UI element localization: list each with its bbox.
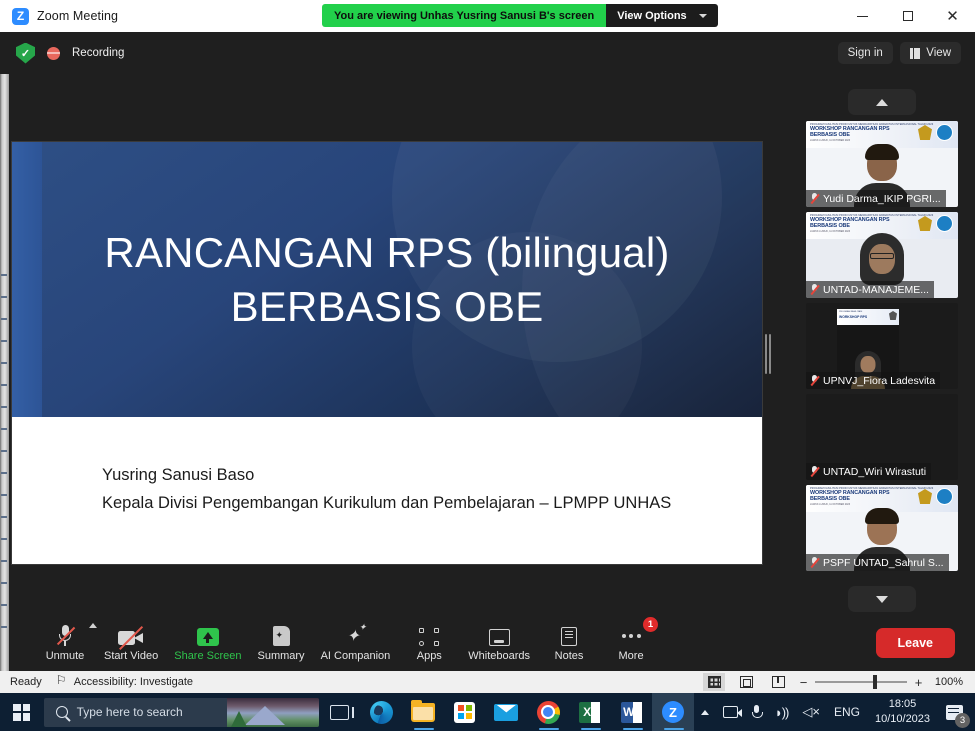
chrome-icon: [537, 701, 560, 724]
zoom-logo-icon: [12, 8, 29, 25]
powerpoint-slide[interactable]: RANCANGAN RPS (bilingual) BERBASIS OBE Y…: [12, 142, 762, 564]
banner-title-2: BERBASIS OBE: [810, 223, 954, 229]
accessibility-icon: [56, 676, 69, 689]
participant-name-label: Yudi Darma_IKIP PGRI...: [806, 190, 946, 207]
taskbar-app-word[interactable]: W: [611, 693, 653, 731]
search-placeholder: Type here to search: [77, 705, 183, 719]
participant-name: UPNVJ_Fiora Ladesvita: [823, 375, 935, 387]
tray-overflow-button[interactable]: [694, 693, 716, 731]
windows-start-icon: [13, 704, 30, 721]
participant-filmstrip: PROGRAM FASILITASI PRODI UNTUK MENDAPATK…: [789, 74, 975, 671]
accessibility-button[interactable]: Accessibility: Investigate: [56, 676, 193, 689]
powerpoint-vertical-ruler: [0, 74, 9, 671]
taskbar-app-store[interactable]: [444, 693, 486, 731]
filmstrip-scroll-down-button[interactable]: [848, 586, 916, 612]
participant-name: PSPF UNTAD_Sahrul S...: [823, 557, 944, 569]
slide-title-line-1: RANCANGAN RPS (bilingual): [104, 226, 669, 280]
slide-subtitle-line-2: Kepala Divisi Pengembangan Kurikulum dan…: [102, 489, 762, 517]
clock-date: 10/10/2023: [875, 712, 930, 727]
excel-icon: X: [579, 702, 600, 723]
chevron-down-icon: [699, 14, 707, 18]
view-options-button[interactable]: View Options: [606, 4, 717, 27]
taskbar-app-zoom[interactable]: Z: [652, 693, 694, 731]
more-button[interactable]: More 1: [600, 618, 662, 668]
shield-check-icon[interactable]: [16, 43, 35, 64]
ruler-tick: [1, 582, 7, 584]
minimize-button[interactable]: [840, 0, 885, 32]
participant-tile[interactable]: PROGRAM FASILITASI PRODI UNTUK MENDAPATK…: [806, 121, 958, 207]
ruler-tick: [1, 538, 7, 540]
system-tray: ◗)) ◁× ENG 18:05 10/10/2023 3: [694, 693, 975, 731]
normal-view-icon: [708, 676, 721, 688]
window-title: Zoom Meeting: [37, 9, 118, 23]
title-bar-left: Zoom Meeting: [0, 8, 118, 25]
reading-view-icon: [740, 676, 753, 688]
recording-status-group: Recording: [0, 43, 124, 64]
participant-name-label: UNTAD_Wiri Wirastuti: [806, 463, 931, 480]
ruler-tick: [1, 384, 7, 386]
ruler-tick: [1, 472, 7, 474]
reading-view-button[interactable]: [735, 673, 757, 691]
ruler-tick: [1, 406, 7, 408]
ruler-tick: [1, 560, 7, 562]
recording-indicator-icon[interactable]: [47, 47, 60, 60]
notes-label: Notes: [555, 650, 584, 662]
participant-tile[interactable]: PROGRAM FASILITASI PRODI UNTUK MENDAPATK…: [806, 212, 958, 298]
slideshow-button[interactable]: [767, 673, 789, 691]
more-label: More: [619, 650, 644, 662]
view-button[interactable]: View: [900, 42, 961, 64]
ruler-tick: [1, 362, 7, 364]
unmute-button[interactable]: Unmute: [34, 618, 96, 668]
taskbar-app-chrome[interactable]: [527, 693, 569, 731]
whiteboards-label: Whiteboards: [468, 650, 530, 662]
maximize-icon: [903, 11, 913, 21]
notes-icon: [561, 627, 577, 646]
zoom-slider[interactable]: [815, 681, 907, 683]
unmute-label: Unmute: [46, 650, 85, 662]
slide-title-line-2: BERBASIS OBE: [231, 280, 544, 334]
recording-label: Recording: [72, 47, 124, 59]
ai-sparkle-icon: ✦✦: [345, 626, 365, 646]
slideshow-icon: [772, 676, 785, 688]
view-options-label: View Options: [617, 10, 686, 22]
banner-date: LUWUK LUWUK, 11 OKTOBER 2023: [810, 503, 954, 506]
mail-icon: [494, 704, 518, 721]
slide-subtitle-line-1: Yusring Sanusi Baso: [102, 461, 762, 489]
close-button[interactable]: ✕: [930, 0, 975, 32]
share-screen-label: Share Screen: [174, 650, 241, 662]
microphone-muted-icon: [810, 193, 819, 205]
zoom-meeting-window: Zoom Meeting You are viewing Unhas Yusri…: [0, 0, 975, 731]
view-label: View: [926, 47, 951, 59]
zoom-percent-label[interactable]: 100%: [933, 676, 963, 688]
ruler-tick: [1, 516, 7, 518]
ministry-logo-icon: [936, 124, 953, 141]
more-dots-icon: [622, 626, 641, 646]
ai-companion-label: AI Companion: [321, 650, 391, 662]
participant-name: UNTAD_Wiri Wirastuti: [823, 466, 926, 478]
microphone-muted-icon: [810, 466, 819, 478]
layout-view-icon: [910, 48, 921, 59]
participant-name: Yudi Darma_IKIP PGRI...: [823, 193, 941, 205]
slide-title-text: RANCANGAN RPS (bilingual) BERBASIS OBE: [12, 142, 762, 417]
microphone-muted-icon: [810, 375, 819, 387]
search-highlight-image: [227, 698, 319, 727]
wifi-icon: ◗)): [775, 705, 789, 720]
banner-date: LUWUK LUWUK, 11 OKTOBER 2023: [810, 139, 954, 142]
window-title-bar: Zoom Meeting You are viewing Unhas Yusri…: [0, 0, 975, 32]
taskbar-app-file-explorer[interactable]: [402, 693, 444, 731]
window-controls: ✕: [840, 0, 975, 32]
tray-microphone[interactable]: [745, 693, 768, 731]
shared-screen-stage: RANCANGAN RPS (bilingual) BERBASIS OBE Y…: [0, 74, 975, 671]
share-screen-icon: [197, 628, 219, 646]
zoom-meeting-controls: Unmute Start Video Share Screen Summary …: [12, 615, 975, 671]
participant-tile[interactable]: PROGRAM FASILITASI WORKSHOP RPS: [806, 303, 958, 389]
ruler-tick: [1, 274, 7, 276]
chevron-up-icon: [701, 710, 709, 715]
search-icon: [56, 706, 68, 718]
file-explorer-icon: [411, 703, 435, 722]
sign-in-button[interactable]: Sign in: [838, 42, 893, 64]
filmstrip-scroll-up-button[interactable]: [848, 89, 916, 115]
participant-tile[interactable]: PROGRAM FASILITASI PRODI UNTUK MENDAPATK…: [806, 485, 958, 571]
participant-name-label: UNTAD-MANAJEME...: [806, 281, 934, 298]
task-view-button[interactable]: [319, 693, 361, 731]
clock-time: 18:05: [889, 697, 917, 712]
maximize-button[interactable]: [885, 0, 930, 32]
sign-in-label: Sign in: [848, 47, 883, 59]
microphone-muted-icon: [810, 557, 819, 569]
video-panel-drag-handle[interactable]: [765, 334, 771, 374]
zoom-icon: Z: [662, 701, 684, 723]
normal-view-button[interactable]: [703, 673, 725, 691]
share-screen-button[interactable]: Share Screen: [166, 618, 249, 668]
tray-camera[interactable]: [716, 693, 745, 731]
banner-title-2: BERBASIS OBE: [810, 496, 954, 502]
edge-icon: [370, 701, 393, 724]
summary-doc-icon: [273, 626, 290, 646]
participant-tile[interactable]: UNTAD_Wiri Wirastuti: [806, 394, 958, 480]
participant-name: UNTAD-MANAJEME...: [823, 284, 929, 296]
status-bar-left: Ready Accessibility: Investigate: [0, 676, 193, 689]
ruler-tick: [1, 494, 7, 496]
volume-muted-icon: ◁×: [802, 704, 820, 720]
start-video-label: Start Video: [104, 650, 158, 662]
microphone-muted-icon: [58, 625, 72, 646]
tray-volume[interactable]: ◁×: [795, 693, 827, 731]
zoom-out-button[interactable]: −: [799, 676, 808, 689]
summary-label: Summary: [258, 650, 305, 662]
windows-taskbar: Type here to search X W Z ◗)) ◁× ENG 18:…: [0, 693, 975, 731]
ai-companion-button[interactable]: ✦✦ AI Companion: [313, 618, 399, 668]
chevron-down-icon: [876, 596, 888, 603]
task-view-icon: [330, 705, 349, 720]
ruler-tick: [1, 296, 7, 298]
tray-language[interactable]: ENG: [827, 693, 867, 731]
banner-title-2: BERBASIS OBE: [810, 132, 954, 138]
tray-network[interactable]: ◗)): [768, 693, 796, 731]
screen-share-notice: You are viewing Unhas Yusring Sanusi B's…: [322, 4, 718, 27]
zoom-top-bar-right: Sign in View: [838, 42, 975, 64]
apps-button[interactable]: Apps: [398, 618, 460, 668]
participant-name-label: PSPF UNTAD_Sahrul S...: [806, 554, 949, 571]
close-icon: ✕: [946, 9, 959, 24]
taskbar-app-edge[interactable]: [360, 693, 402, 731]
notes-button[interactable]: Notes: [538, 618, 600, 668]
microphone-tray-icon: [752, 705, 761, 719]
minimize-icon: [857, 16, 868, 17]
word-icon: W: [621, 702, 642, 723]
microphone-muted-icon: [810, 284, 819, 296]
sharing-notice-text: You are viewing Unhas Yusring Sanusi B's…: [322, 4, 606, 27]
apps-label: Apps: [417, 650, 442, 662]
whiteboards-button[interactable]: Whiteboards: [460, 618, 538, 668]
ruler-tick: [1, 604, 7, 606]
zoom-in-button[interactable]: +: [914, 676, 923, 689]
slide-subtitle-area: Yusring Sanusi Baso Kepala Divisi Pengem…: [12, 417, 762, 564]
summary-button[interactable]: Summary: [250, 618, 313, 668]
ruler-tick: [1, 428, 7, 430]
notification-center-button[interactable]: 3: [938, 693, 971, 731]
start-video-button[interactable]: Start Video: [96, 618, 166, 668]
ministry-logo-icon: [936, 488, 953, 505]
more-badge: 1: [643, 617, 658, 632]
start-button[interactable]: [0, 693, 44, 731]
microsoft-store-icon: [454, 702, 475, 723]
zoom-slider-thumb[interactable]: [873, 675, 877, 689]
chevron-up-icon: [876, 99, 888, 106]
apps-icon: [419, 628, 439, 646]
whiteboard-icon: [489, 629, 510, 646]
powerpoint-status-bar: Ready Accessibility: Investigate − + 100…: [0, 671, 975, 693]
participant-name-label: UPNVJ_Fiora Ladesvita: [806, 372, 940, 389]
status-bar-right: − + 100%: [703, 673, 975, 691]
taskbar-clock[interactable]: 18:05 10/10/2023: [867, 693, 938, 731]
camera-off-icon: [118, 630, 144, 646]
taskbar-app-mail[interactable]: [486, 693, 528, 731]
leave-button[interactable]: Leave: [876, 628, 955, 658]
search-input[interactable]: Type here to search: [44, 698, 319, 727]
ministry-logo-icon: [936, 215, 953, 232]
status-ready-label: Ready: [10, 676, 42, 688]
accessibility-label: Accessibility: Investigate: [74, 676, 193, 688]
slide-title-area: RANCANGAN RPS (bilingual) BERBASIS OBE: [12, 142, 762, 417]
zoom-top-bar: Recording Sign in View: [0, 32, 975, 74]
zoom-slider-group: − +: [799, 676, 923, 689]
ruler-tick: [1, 626, 7, 628]
ruler-tick: [1, 340, 7, 342]
camera-tray-icon: [723, 706, 738, 718]
ruler-tick: [1, 318, 7, 320]
taskbar-app-excel[interactable]: X: [569, 693, 611, 731]
notification-badge: 3: [955, 713, 970, 728]
ruler-tick: [1, 450, 7, 452]
